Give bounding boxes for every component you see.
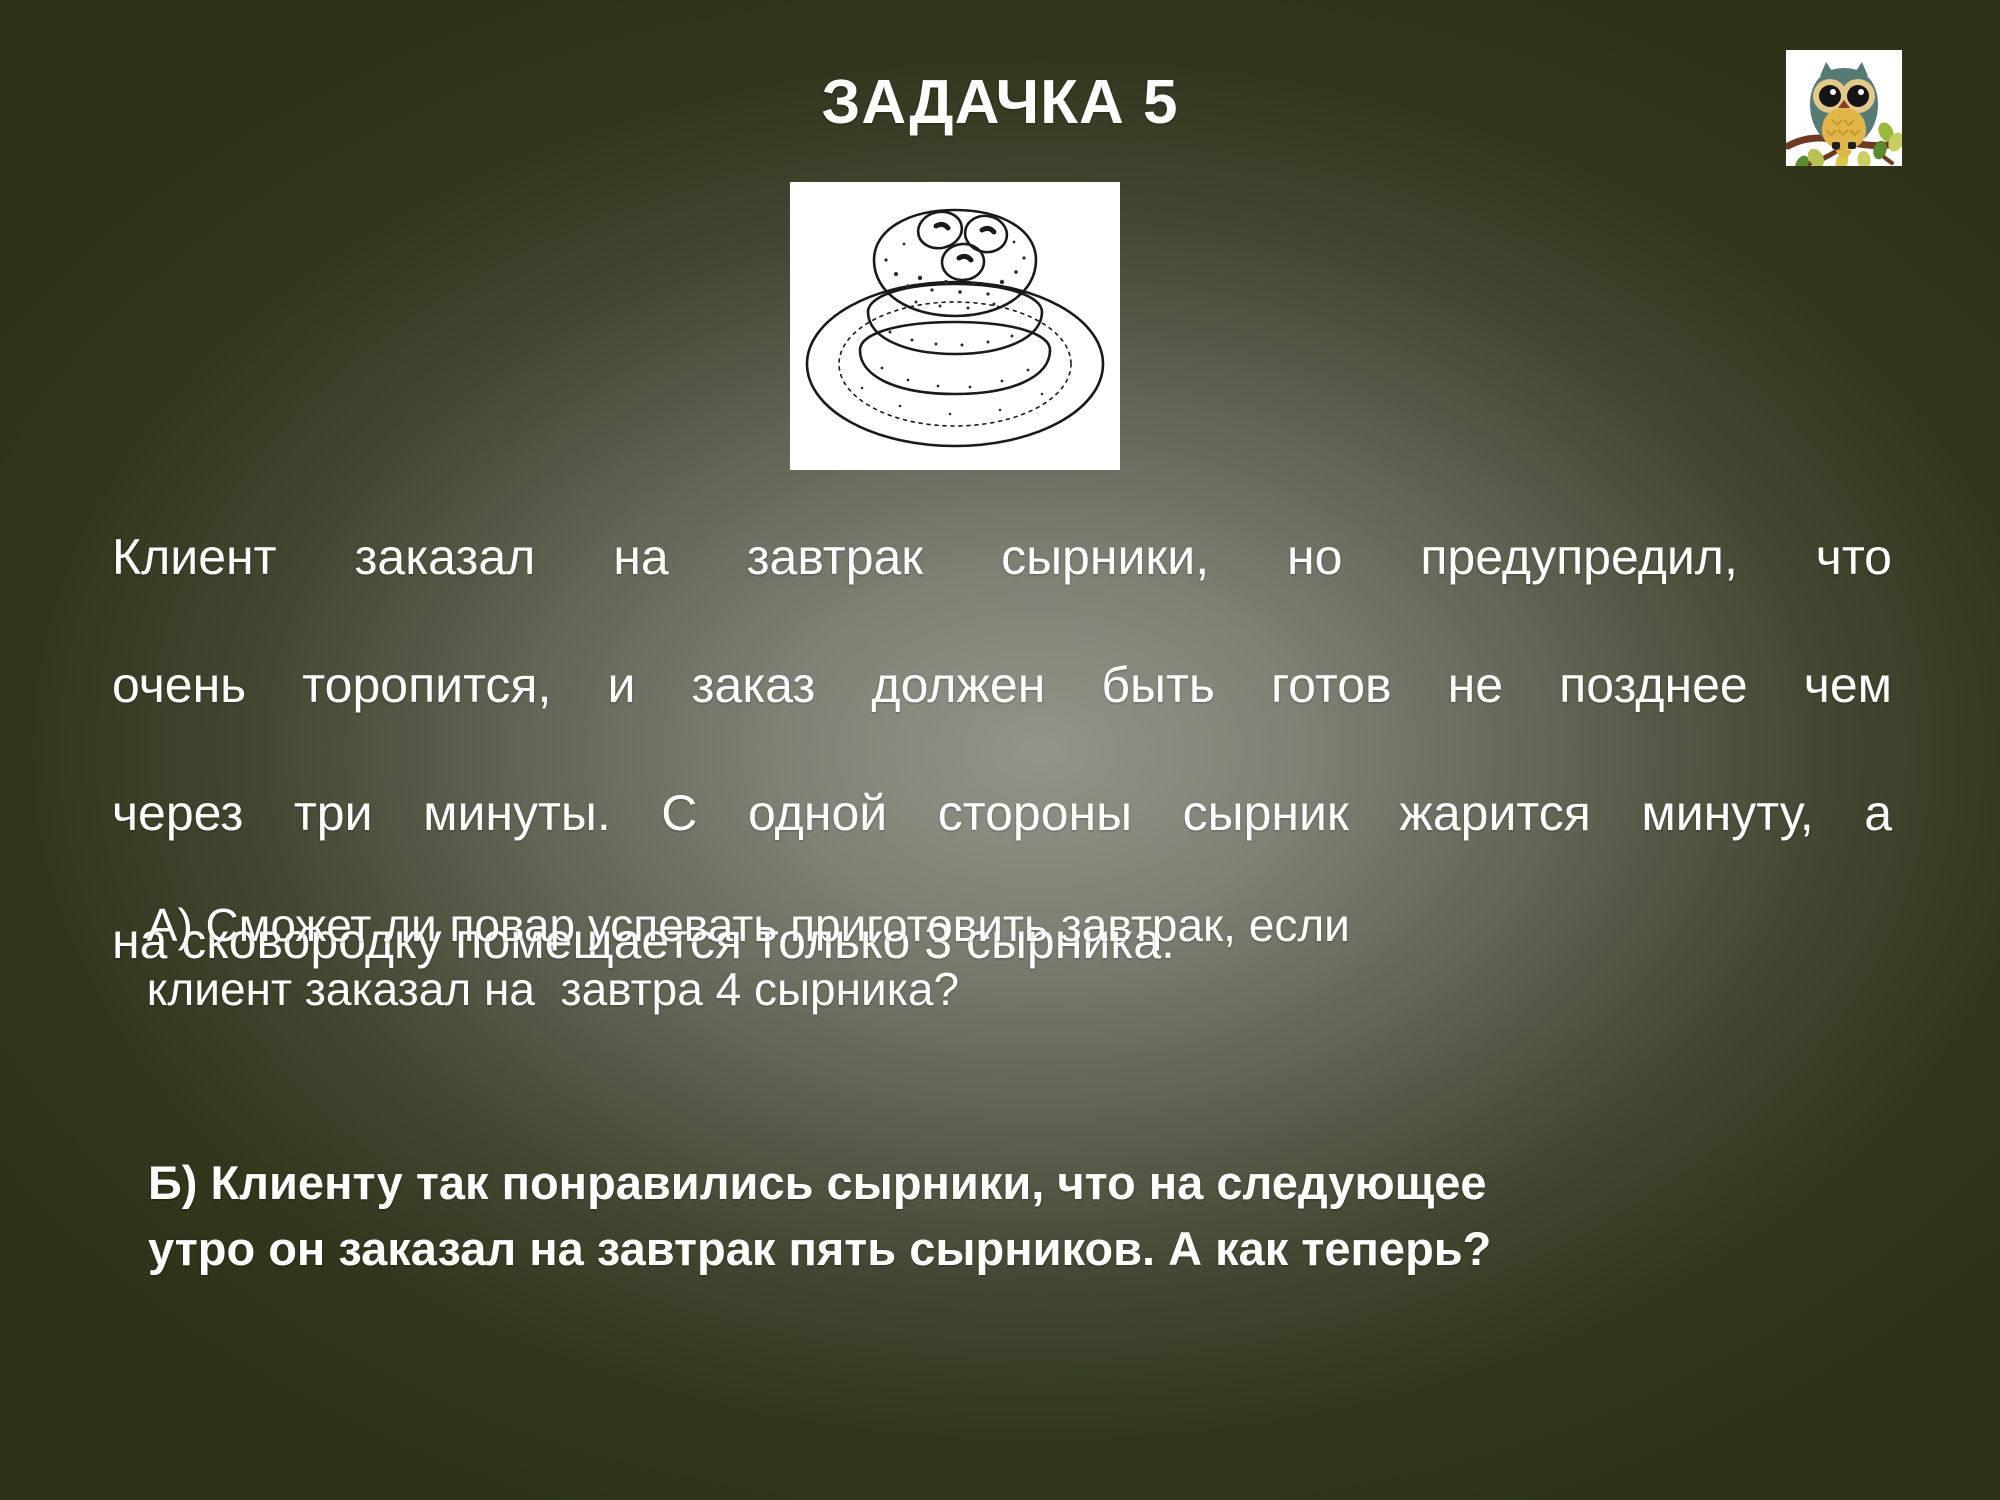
question-a: А) Сможет ли повар успевать приготовить … — [134, 893, 1854, 1022]
question-b-line-2: утро он заказал на завтрак пять сырников… — [148, 1216, 1888, 1282]
question-b: Б) Клиенту так понравились сырники, что … — [148, 1150, 1888, 1282]
problem-line-3: через три минуты. С одной стороны сырник… — [112, 781, 1892, 909]
pancake-stack-icon — [790, 182, 1120, 470]
question-a-line-1: А) Сможет ли повар успевать приготовить … — [134, 893, 1854, 957]
title-bar: ЗАДАЧКА 5 — [0, 28, 2000, 176]
question-b-line-1: Б) Клиенту так понравились сырники, что … — [148, 1150, 1888, 1216]
slide-canvas: ЗАДАЧКА 5 — [0, 0, 2000, 1500]
problem-line-2: очень торопится, и заказ должен быть гот… — [112, 653, 1892, 781]
problem-line-1: Клиент заказал на завтрак сырники, но пр… — [112, 525, 1892, 653]
question-a-line-2: клиент заказал на завтра 4 сырника? — [134, 957, 1854, 1021]
owl-logo — [1786, 50, 1902, 166]
page-title: ЗАДАЧКА 5 — [821, 70, 1178, 135]
owl-icon — [1786, 50, 1902, 166]
syrniki-illustration — [790, 182, 1120, 470]
